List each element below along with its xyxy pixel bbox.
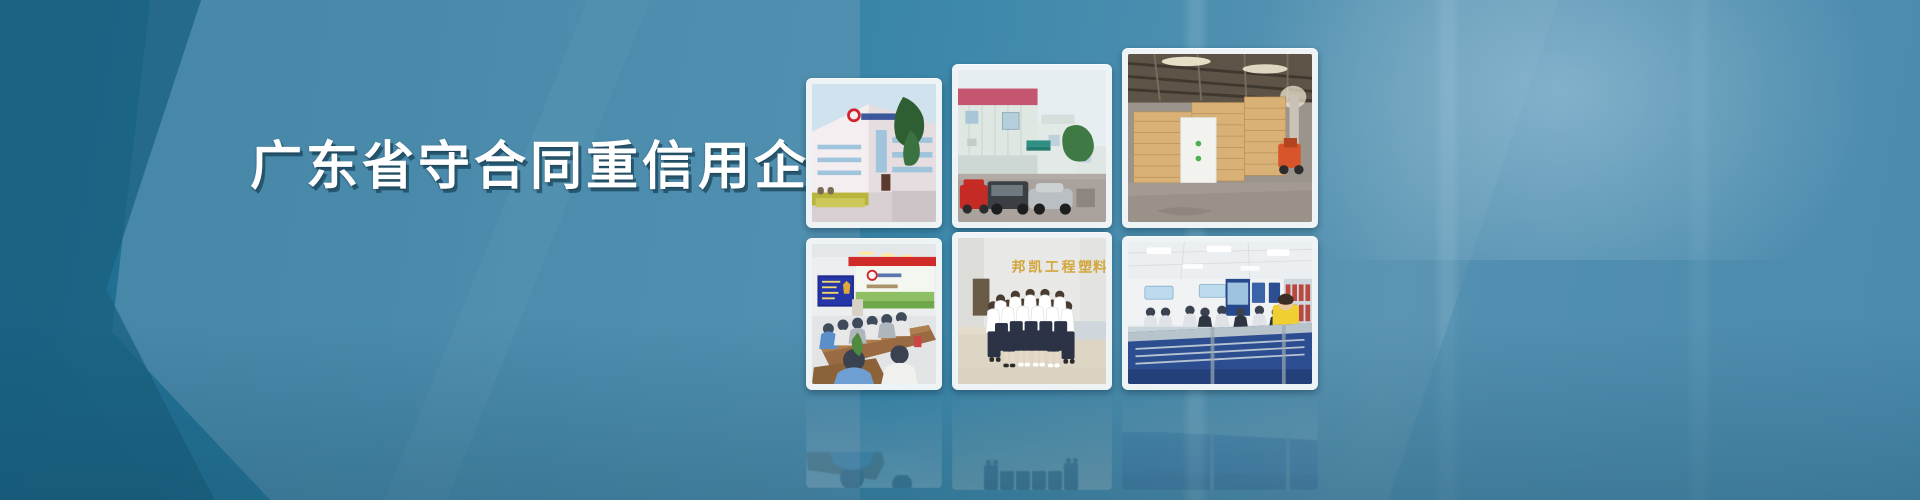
photo-factory-exterior [952, 64, 1112, 228]
photo-reflection-col1 [806, 392, 942, 488]
photo-factory-exterior-image [958, 70, 1106, 222]
photo-reflection-col3 [1122, 390, 1318, 490]
svg-text:程: 程 [1062, 259, 1076, 274]
photo-warehouse-stock [1122, 48, 1318, 228]
photo-office-building [806, 78, 942, 228]
svg-text:工: 工 [1045, 259, 1059, 274]
photo-open-office [1122, 236, 1318, 390]
photo-reflection-col2 [952, 386, 1112, 490]
photo-staff-group: 邦凯工 程塑料 [952, 232, 1112, 390]
photo-open-office-image [1128, 242, 1312, 384]
banner-headline: 广东省守合同重信用企业 [250, 124, 866, 199]
svg-text:邦: 邦 [1012, 258, 1026, 274]
svg-text:塑: 塑 [1078, 258, 1092, 274]
photo-office-building-image [812, 84, 936, 222]
svg-text:料: 料 [1093, 258, 1106, 274]
photo-warehouse-stock-image [1128, 54, 1312, 222]
company-photo-grid: 邦凯工 程塑料 [806, 44, 1326, 389]
photo-conference-meeting-image [812, 244, 936, 384]
promo-banner: 广东省守合同重信用企业 [0, 0, 1920, 500]
photo-conference-meeting [806, 238, 942, 390]
svg-text:凯: 凯 [1028, 258, 1042, 274]
photo-staff-group-image: 邦凯工 程塑料 [958, 238, 1106, 384]
background-glow [1240, 0, 1880, 260]
